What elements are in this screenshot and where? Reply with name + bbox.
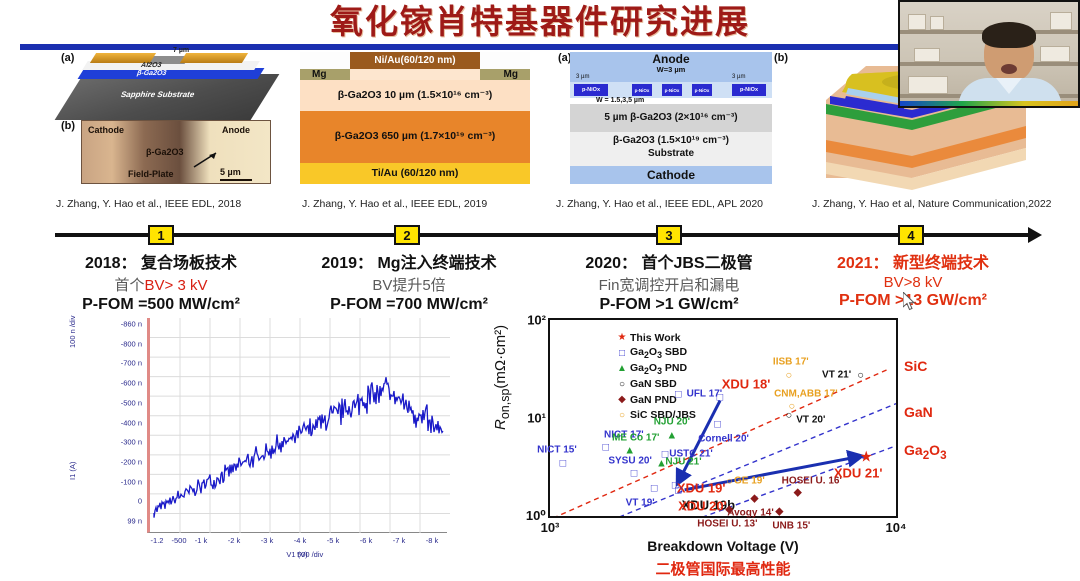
mg-gap [350, 69, 480, 80]
iv-ytick: -600 n [121, 379, 142, 388]
milestone-metric: 首个BV> 3 kV [26, 274, 296, 295]
milestone-metric: BV提升5倍 [274, 274, 544, 295]
data-point-diamond: ◆ [725, 505, 733, 516]
cross-section-micrograph: Cathode Anode β-Ga2O3 Field-Plate 5 µm [81, 120, 271, 184]
milestone-year: 2018： [85, 255, 137, 272]
milestone-title: 2020： 首个JBS二极管 [534, 249, 804, 273]
substrate-layer: β-Ga2O3 (1.5×10¹⁹ cm⁻³) Substrate [570, 132, 772, 166]
data-point-label: GE 19' [734, 476, 765, 487]
scatter-caption: 二极管国际最高性能 [548, 558, 898, 579]
book [914, 48, 940, 62]
material-limit-sic: SiC [904, 358, 927, 374]
legend-marker-circle-open-icon: ○ [614, 410, 630, 421]
legend-marker-diamond-icon: ◆ [614, 394, 630, 405]
scatter-y-ticks: 10⁰10¹10² [504, 318, 546, 518]
book [1040, 46, 1070, 62]
milestone-tech: Mg注入终端技术 [377, 255, 496, 272]
legend-label: Ga2O3 SBD [630, 346, 687, 360]
book [1050, 12, 1072, 30]
timeline-node-4[interactable]: 4 [898, 225, 924, 245]
mg-label-right: Mg [504, 69, 518, 80]
layer-substrate: β-Ga2O3 650 µm (1.7×10¹⁹ cm⁻³) [300, 111, 530, 163]
milestone-2019: 2019： Mg注入终端技术 BV提升5倍 P-FOM =700 MW/cm² [274, 249, 544, 314]
material-label: β-Ga2O3 [146, 147, 184, 157]
legend-item: ▲Ga2O3 PND [614, 361, 764, 377]
data-point-square: □ [603, 442, 610, 453]
data-point-circle-open: ○ [785, 370, 792, 381]
anode-label: Anode [570, 52, 772, 66]
panel-2020-device: (a) (b) Anode W=3 µm 3 µm 3 µm p-NiOx p-… [556, 52, 786, 200]
data-point-label: CNM,ABB 17' [774, 388, 838, 399]
dim-right-label: 3 µm [732, 74, 745, 80]
scatter-xlabel: Breakdown Voltage (V) [548, 538, 898, 554]
data-point-label: XDU 21' [834, 465, 883, 480]
data-point-triangle: ▲ [624, 446, 635, 457]
data-point-label: VT 21' [822, 369, 851, 380]
milestone-tech: 复合场板技术 [141, 255, 237, 272]
iv-xtick: -8 k [426, 536, 439, 545]
milestone-2018: 2018： 复合场板技术 首个BV> 3 kV P-FOM =500 MW/cm… [26, 249, 296, 314]
legend-label: GaN PND [630, 394, 677, 406]
legend-item: □Ga2O3 SBD [614, 346, 764, 362]
w-range-label: W = 1.5,3,5 µm [596, 97, 644, 104]
substrate-line2: Substrate [570, 148, 772, 161]
presenter-hair [982, 22, 1036, 48]
citation-2018: J. Zhang, Y. Hao et al., IEEE EDL, 2018 [56, 198, 241, 210]
iv-xtick: -3 k [261, 536, 274, 545]
scatter-plot-area: ★This Work□Ga2O3 SBD▲Ga2O3 PND○GaN SBD◆G… [548, 318, 898, 518]
oxide-label: Al2O3 [140, 62, 163, 69]
layer-epi: β-Ga2O3 10 µm (1.5×10¹⁶ cm⁻³) [300, 80, 530, 111]
mg-label-left: Mg [312, 69, 326, 80]
w-top-label: W=3 µm [570, 65, 772, 74]
epi-layer: 5 µm β-Ga2O3 (2×10¹⁶ cm⁻³) [570, 104, 772, 132]
iv-trace [150, 318, 450, 533]
timeline-node-1[interactable]: 1 [148, 225, 174, 245]
presenter-mouth [1001, 64, 1017, 74]
milestone-metric: Fin宽调控开启和漏电 [534, 274, 804, 295]
dim-left-label: 3 µm [576, 74, 589, 80]
layer-tiau: Ti/Au (60/120 nm) [300, 163, 530, 184]
data-point-triangle: ▲ [666, 431, 677, 442]
pointer-arrow-icon [192, 151, 220, 169]
legend-marker-triangle-icon: ▲ [614, 363, 630, 374]
scatter-ytick: 10² [527, 313, 546, 328]
milestone-title: 2021： 新型终端技术 [778, 249, 1048, 273]
panel-tag-b: (b) [61, 120, 75, 132]
data-point-label: XDU 18' [722, 376, 771, 391]
iv-ytick: 99 n [127, 517, 142, 526]
dimension-label: 7 µm [173, 47, 189, 54]
iv-xtick: -2 k [228, 536, 241, 545]
scale-label: 5 µm [220, 167, 241, 177]
pnio-block: p-NiOx [692, 84, 712, 96]
data-point-label: HOSEI U. 16' [782, 476, 842, 487]
milestone-year: 2019： [321, 255, 373, 272]
milestone-year: 2020： [585, 255, 637, 272]
iv-ytick: -200 n [121, 457, 142, 466]
substrate-label: Sapphire Substrate [120, 90, 196, 99]
cathode-label: Cathode [88, 125, 124, 135]
legend-marker-star-icon: ★ [614, 332, 630, 343]
iv-ytick: -800 n [121, 339, 142, 348]
data-point-label: NJU 21' [665, 456, 701, 467]
data-point-label: XDU 20' [678, 498, 727, 513]
data-point-square: □ [560, 458, 567, 469]
layer-mg-band: Mg Mg [300, 69, 530, 80]
milestone-2020: 2020： 首个JBS二极管 Fin宽调控开启和漏电 P-FOM >1 GW/c… [534, 249, 804, 314]
pnio-row: p-NiOx p-NiOx p-NiOx p-NiOx p-NiOx [570, 82, 772, 98]
scatter-x-ticks: 10³10⁴ [548, 520, 898, 538]
pnio-block: p-NiOx [662, 84, 682, 96]
legend-label: Ga2O3 PND [630, 362, 687, 376]
field-plate-label: Field-Plate [128, 169, 174, 179]
pnio-block: p-NiOx [732, 84, 766, 96]
ron-vs-bv-benchmark: Ron,sp(mΩ·cm²) 10⁰10¹10² ★This Work□Ga2O… [488, 310, 948, 578]
iv-ytick: -400 n [121, 418, 142, 427]
anode-label: Anode [222, 125, 250, 135]
iv-xtick: -1 k [195, 536, 208, 545]
pnio-block: p-NiOx [632, 84, 652, 96]
data-point-label: VT 20' [796, 414, 825, 425]
slide-root: 氧化镓肖特基器件研究进展 (a) 7 µm Al2O3 β-Ga2O3 Sapp… [0, 0, 1080, 581]
anode-pad [180, 53, 248, 63]
iv-y-axis-ticks: -860 n-800 n-700 n-600 n-500 n-400 n-300… [90, 318, 142, 533]
iv-plot-area [147, 318, 447, 533]
timeline-axis [55, 233, 1030, 237]
iv-xtick: -6 k [360, 536, 373, 545]
book [930, 16, 944, 30]
data-point-square: □ [717, 392, 724, 403]
iv-xdiv-label: 500 /div [297, 550, 323, 559]
data-point-circle-open: ○ [726, 477, 733, 488]
iv-ylabel: I1 (A) [68, 462, 77, 480]
material-limit-gan: GaN [904, 404, 933, 420]
data-point-label: XDU 19' [677, 481, 726, 496]
data-point-label: VT 19' [626, 497, 655, 508]
legend-label: GaN SBD [630, 378, 677, 390]
panel-2018-device: (a) 7 µm Al2O3 β-Ga2O3 Sapphire Substrat… [55, 52, 280, 200]
data-point-square: □ [714, 419, 721, 430]
color-strip [900, 101, 1078, 106]
milestone-title: 2019： Mg注入终端技术 [274, 249, 544, 273]
cathode-layer: Cathode [570, 166, 772, 184]
book [908, 76, 948, 94]
data-point-label: NICT 15' [537, 444, 577, 455]
iv-x-axis-ticks: -1.2-500-1 k-2 k-3 k-4 k-5 k-6 k-7 k-8 k [147, 536, 447, 550]
legend-marker-square-icon: □ [614, 348, 630, 359]
milestone-year: 2021： [837, 255, 889, 272]
iv-ytick: 0 [138, 497, 142, 506]
layer-stack-diagram: Ni/Au(60/120 nm) Mg Mg β-Ga2O3 10 µm (1.… [300, 52, 530, 184]
material-limit-ga2o3: Ga2O3 [904, 442, 947, 462]
data-point-circle-open: ○ [789, 401, 796, 412]
timeline-node-3[interactable]: 3 [656, 225, 682, 245]
data-point-square: □ [675, 485, 682, 496]
data-point-label: ME Co 17' [612, 433, 659, 444]
iv-xtick: -4 k [294, 536, 307, 545]
timeline: 1 2 3 4 2018： 复合场板技术 首个BV> 3 kV P-FOM =5… [0, 225, 1080, 309]
scatter-xtick: 10³ [541, 520, 560, 535]
data-point-square: □ [651, 483, 658, 494]
channel-label: β-Ga2O3 [136, 70, 167, 77]
layer-niau: Ni/Au(60/120 nm) [350, 52, 480, 69]
iv-ytick: -500 n [121, 398, 142, 407]
citation-2020: J. Zhang, Y. Hao et al., IEEE EDL, APL 2… [556, 198, 763, 210]
metric-highlight: BV> 3 kV [145, 277, 208, 294]
citation-2022: J. Zhang, Y. Hao et al, Nature Communica… [812, 198, 1052, 210]
milestone-metric: BV>8 kV [778, 274, 1048, 291]
legend-item: ★This Work [614, 330, 764, 346]
iv-breakdown-plot: 100 n /div I1 (A) -860 n-800 n-700 n-600… [42, 312, 462, 567]
data-point-label: Cornell 20' [698, 433, 749, 444]
citation-2019: J. Zhang, Y. Hao et al., IEEE EDL, 2019 [302, 198, 487, 210]
book [908, 14, 926, 30]
data-point-square: □ [675, 390, 682, 401]
iv-xtick: -7 k [393, 536, 406, 545]
scatter-ytick: 10¹ [527, 411, 546, 426]
milestone-title: 2018： 复合场板技术 [26, 249, 296, 273]
iv-ytick: -300 n [121, 438, 142, 447]
iv-ydiv-label: 100 n /div [68, 315, 77, 348]
citations-row: J. Zhang, Y. Hao et al., IEEE EDL, 2018 … [0, 198, 1080, 218]
iv-xtick: -500 [171, 536, 186, 545]
iso-device-diagram: 7 µm Al2O3 β-Ga2O3 Sapphire Substrate [63, 54, 275, 124]
scatter-xtick: 10⁴ [886, 520, 907, 535]
data-point-circle: ○ [857, 370, 864, 381]
legend-label: This Work [630, 332, 681, 344]
iv-ytick: -700 n [121, 359, 142, 368]
iv-xtick: -5 k [327, 536, 340, 545]
iv-ytick: -860 n [121, 320, 142, 329]
pnio-block: p-NiOx [574, 84, 608, 96]
milestone-tech: 新型终端技术 [893, 255, 989, 272]
data-point-star: ★ [859, 449, 872, 464]
timeline-node-2[interactable]: 2 [394, 225, 420, 245]
data-point-diamond: ◆ [775, 506, 783, 517]
presenter-webcam[interactable] [898, 0, 1080, 108]
data-point-square: □ [631, 468, 638, 479]
data-point-label: IISB 17' [773, 356, 809, 367]
timeline-arrow-icon [1028, 227, 1042, 243]
panel-2019-device: Ni/Au(60/120 nm) Mg Mg β-Ga2O3 10 µm (1.… [300, 52, 530, 200]
milestone-tech: 首个JBS二极管 [641, 255, 752, 272]
mouse-cursor-icon [903, 292, 916, 311]
data-point-label: SYSU 20' [608, 455, 652, 466]
iv-xtick: -1.2 [151, 536, 164, 545]
data-point-label: NJU 20' [654, 417, 690, 428]
data-point-diamond: ◆ [794, 488, 802, 499]
substrate-line1: β-Ga2O3 (1.5×10¹⁹ cm⁻³) [570, 135, 772, 148]
data-point-diamond: ◆ [750, 493, 758, 504]
iv-ytick: -100 n [121, 477, 142, 486]
scale-bar [220, 179, 252, 181]
legend-marker-circle-icon: ○ [614, 379, 630, 390]
metric-prefix: 首个 [115, 277, 145, 294]
jbs-diagram: Anode W=3 µm 3 µm 3 µm p-NiOx p-NiOx p-N… [556, 52, 786, 184]
data-point-label: Avogy 14' [727, 507, 773, 518]
